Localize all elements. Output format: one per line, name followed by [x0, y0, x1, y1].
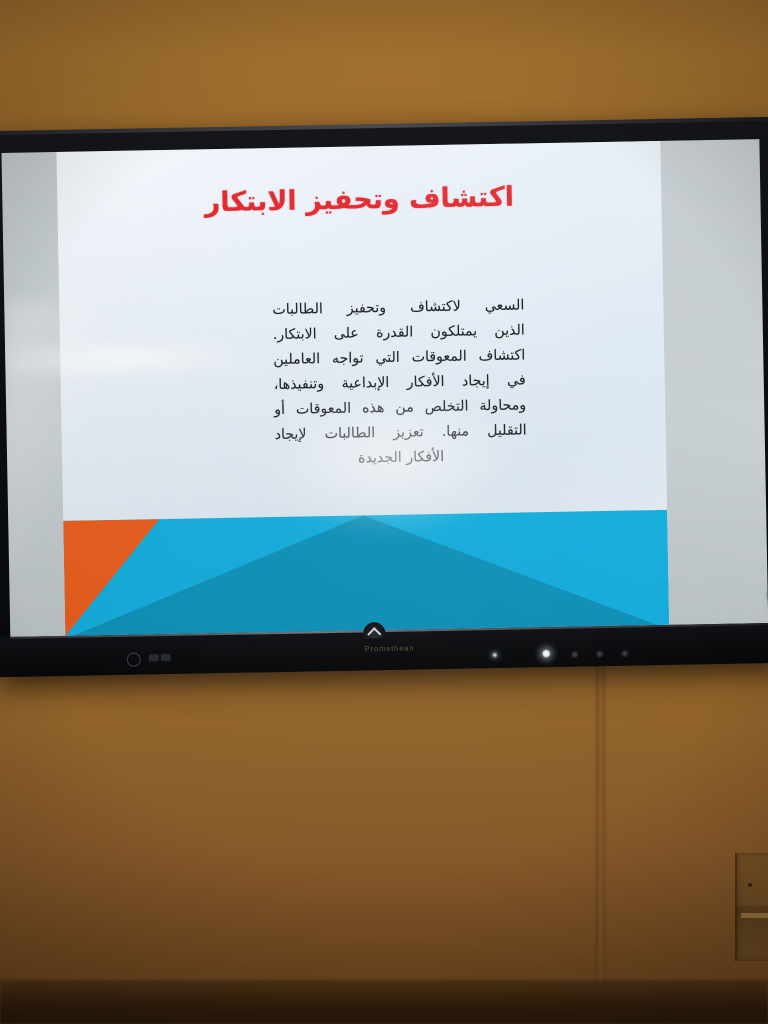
sensor-dot-b — [596, 650, 604, 658]
power-led[interactable] — [542, 649, 551, 658]
slide-title: اكتشاف وتحفيز الابتكار — [57, 179, 661, 221]
status-led — [492, 652, 498, 658]
slide-body-line-7: الأفكار الجديدة — [275, 443, 527, 473]
chevron-up-icon[interactable] — [363, 622, 385, 638]
slide-body-text: السعي لاكتشاف وتحفيز الطالبات الذين يمتل… — [272, 293, 527, 473]
presentation-slide[interactable]: اكتشاف وتحفيز الابتكار السعي لاكتشاف وتح… — [56, 141, 669, 636]
wall-lower — [0, 640, 768, 1024]
slide-decoration-band — [63, 510, 669, 636]
brand-label: Promethean — [0, 637, 768, 660]
wall-seam — [596, 660, 605, 990]
sensor-dot-a — [571, 650, 579, 658]
orange-triangle-shape — [63, 519, 161, 636]
fixture-screw — [748, 883, 752, 887]
slide-body-line-6: التقليل منها. تعزيز الطالبات لإيجاد — [274, 418, 526, 448]
interactive-display[interactable]: اكتشاف وتحفيز الابتكار السعي لاكتشاف وتح… — [0, 117, 768, 677]
floor-edge — [0, 980, 768, 1024]
display-screen[interactable]: اكتشاف وتحفيز الابتكار السعي لاكتشاف وتح… — [1, 139, 768, 637]
wall-fixture — [735, 853, 768, 961]
sensor-dot-c — [621, 650, 629, 658]
fixture-slot — [741, 913, 768, 918]
room-photo: اكتشاف وتحفيز الابتكار السعي لاكتشاف وتح… — [0, 0, 768, 1024]
